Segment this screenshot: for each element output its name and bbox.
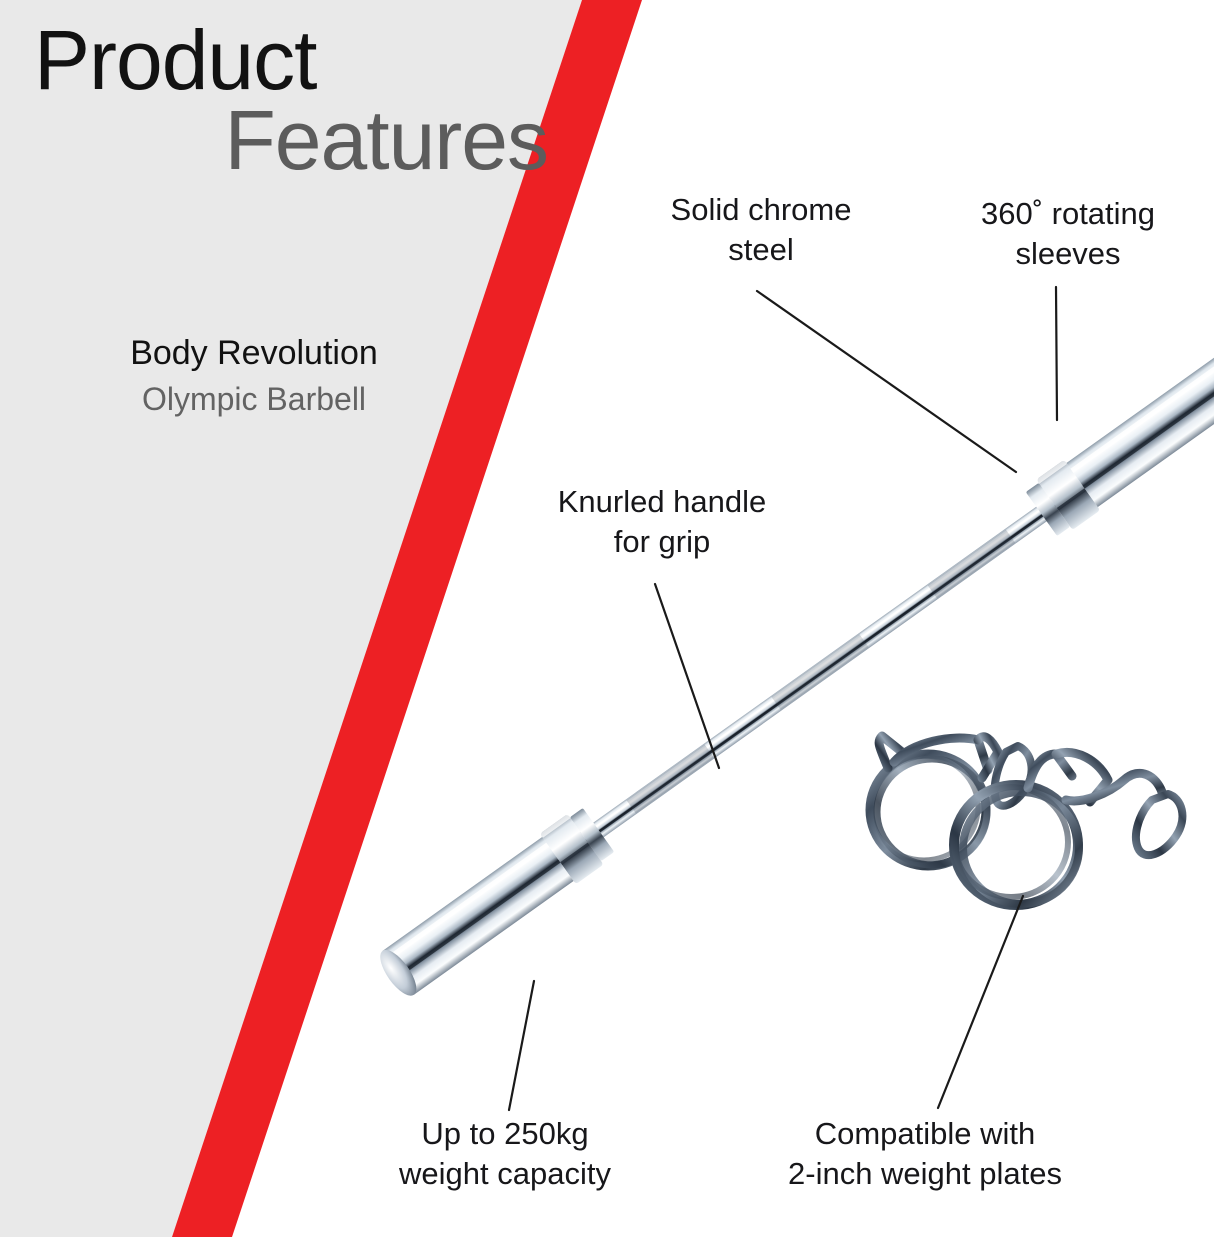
callout-rotating-sleeves: 360˚ rotating sleeves <box>928 194 1208 273</box>
leader-knurled-handle <box>655 584 719 768</box>
title-line-product: Product <box>34 22 554 99</box>
callout-plate-compatibility: Compatible with 2-inch weight plates <box>740 1114 1110 1193</box>
callout-capacity-line2: weight capacity <box>360 1154 650 1194</box>
callout-weight-capacity: Up to 250kg weight capacity <box>360 1114 650 1193</box>
leader-weight-capacity <box>509 981 534 1110</box>
callout-plates-line1: Compatible with <box>740 1114 1110 1154</box>
title-line-features: Features <box>34 99 554 181</box>
product-name: Olympic Barbell <box>0 375 508 421</box>
callout-chrome-line2: steel <box>616 230 906 270</box>
callout-knurl-line1: Knurled handle <box>512 482 812 522</box>
brand-block: Body Revolution Olympic Barbell <box>0 332 508 420</box>
callout-solid-chrome-steel: Solid chrome steel <box>616 190 906 269</box>
brand-name: Body Revolution <box>0 332 508 375</box>
callout-sleeves-line1: 360˚ rotating <box>928 194 1208 234</box>
callout-chrome-line1: Solid chrome <box>616 190 906 230</box>
leader-rotating-sleeves <box>1056 287 1057 420</box>
callout-capacity-line1: Up to 250kg <box>360 1114 650 1154</box>
callout-leader-lines <box>0 0 1214 1237</box>
callout-knurl-line2: for grip <box>512 522 812 562</box>
leader-plate-compatibility <box>938 896 1023 1108</box>
callout-plates-line2: 2-inch weight plates <box>740 1154 1110 1194</box>
product-features-infographic: Product Features Body Revolution Olympic… <box>0 0 1214 1237</box>
page-title: Product Features <box>34 22 554 182</box>
callout-knurled-handle: Knurled handle for grip <box>512 482 812 561</box>
leader-chrome-steel <box>757 291 1016 472</box>
callout-sleeves-line2: sleeves <box>928 234 1208 274</box>
